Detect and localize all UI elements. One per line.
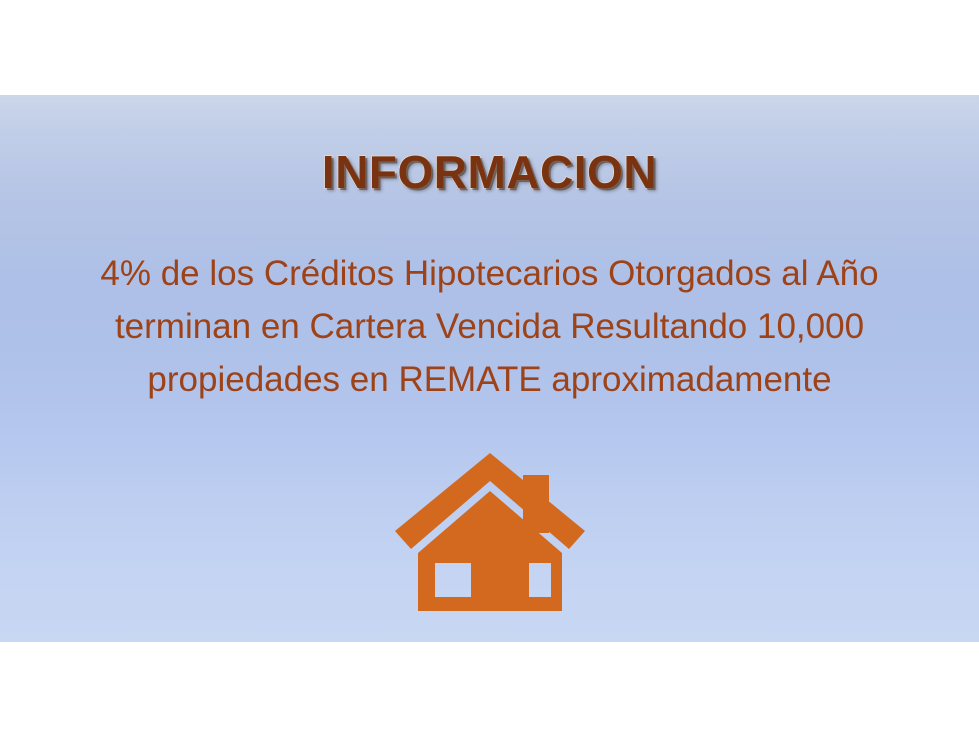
slide-surface: INFORMACION 4% de los Créditos Hipotecar…: [0, 95, 979, 642]
body-line-3: propiedades en REMATE aproximadamente: [24, 353, 955, 406]
body-line-2: terminan en Cartera Vencida Resultando 1…: [24, 300, 955, 353]
house-icon: [395, 453, 585, 611]
slide-title-container: INFORMACION: [0, 145, 979, 199]
page-title: INFORMACION: [322, 145, 657, 199]
body-line-1: 4% de los Créditos Hipotecarios Otorgado…: [24, 247, 955, 300]
slide-canvas: INFORMACION 4% de los Créditos Hipotecar…: [0, 0, 979, 734]
slide-illustration-container: [0, 453, 979, 611]
slide-body-text: 4% de los Créditos Hipotecarios Otorgado…: [24, 247, 955, 406]
